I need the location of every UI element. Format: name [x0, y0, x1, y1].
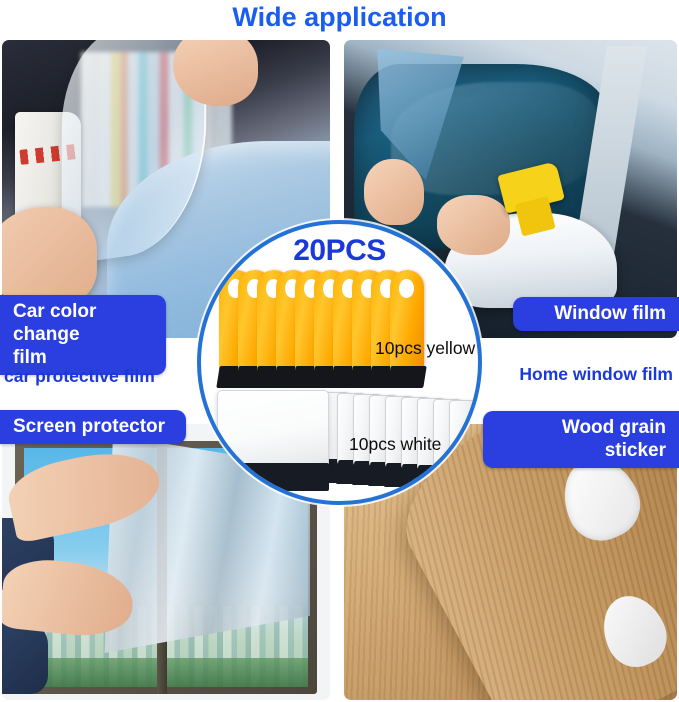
- badge-screen-protector: Screen protector: [0, 410, 186, 444]
- label-white-count: 10pcs white: [349, 434, 441, 454]
- pack-count-title: 20PCS: [201, 234, 478, 268]
- product-count-circle: 20PCS: [197, 220, 482, 505]
- caption-car-protective-film: car protective film: [4, 366, 155, 386]
- yellow-squeegee-group: [219, 270, 419, 388]
- page-title: Wide application: [0, 0, 679, 36]
- badge-wood-grain-sticker: Wood grain sticker: [483, 411, 679, 468]
- installer-sleeve-lower: [2, 623, 48, 695]
- installer-hand-left: [364, 159, 424, 225]
- badge-car-color-change-film: Car color change film: [0, 295, 166, 375]
- badge-window-film: Window film: [513, 297, 679, 331]
- installer-hand-lower: [2, 207, 97, 308]
- white-squeegee-front: [217, 390, 329, 468]
- caption-home-window-film: Home window film: [519, 364, 673, 384]
- white-squeegee: [449, 400, 477, 472]
- label-yellow-count: 10pcs yellow: [375, 338, 475, 358]
- yellow-squeegee: [390, 270, 424, 374]
